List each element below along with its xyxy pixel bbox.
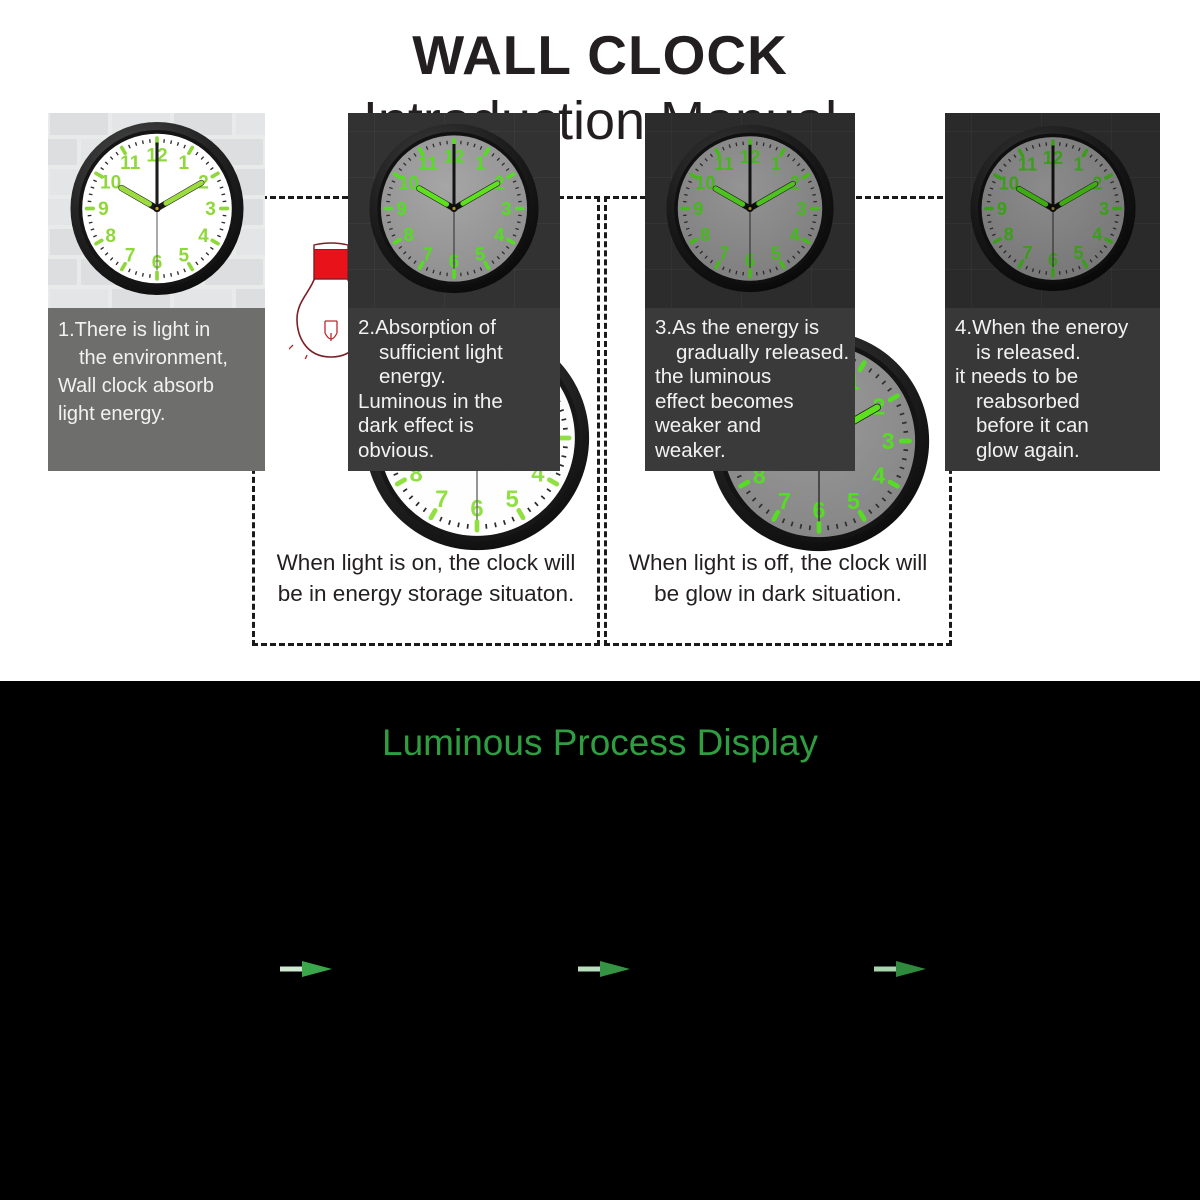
- caption-line-2: be glow in dark situation.: [617, 578, 939, 609]
- step-1-caption-line: Wall clock absorb: [58, 372, 255, 400]
- step-1-caption-line: the environment,: [58, 344, 255, 372]
- clock-numeral: 7: [1022, 243, 1032, 263]
- clock-numeral: 3: [1099, 198, 1109, 218]
- clock-numeral: 4: [198, 225, 209, 246]
- panel-caption-light-off: When light is off, the clock will be glo…: [617, 547, 939, 609]
- step-3-caption-line: weaker and: [655, 414, 845, 439]
- clock-numeral: 5: [475, 243, 485, 264]
- right-arrow-icon: [280, 958, 340, 980]
- clock-numeral: 9: [397, 198, 407, 219]
- step-2-image: 121234567891011: [348, 113, 560, 308]
- clock-numeral: 8: [105, 225, 116, 246]
- step-4-caption-line: 4.When the eneroy: [955, 316, 1150, 341]
- caption-line-1: When light is off, the clock will: [617, 547, 939, 578]
- clock-numeral: 11: [1017, 154, 1036, 174]
- clock-numeral: 4: [494, 224, 505, 245]
- clock-numeral: 7: [778, 488, 791, 514]
- luminous-process-title: Luminous Process Display: [0, 721, 1200, 765]
- clock-numeral: 7: [124, 245, 135, 266]
- clock-numeral: 10: [695, 172, 715, 193]
- wall-clock-icon: 121234567891011: [969, 124, 1137, 297]
- step-4-caption-line: glow again.: [955, 439, 1150, 464]
- step-3-caption: 3.As the energy isgradually released.the…: [645, 308, 855, 471]
- right-arrow-icon: [578, 958, 638, 980]
- step-4-image: 121234567891011: [945, 113, 1160, 308]
- clock-numeral: 5: [506, 486, 519, 513]
- clock-numeral: 1: [178, 152, 189, 173]
- clock-numeral: 9: [693, 197, 703, 218]
- clock-numeral: 3: [797, 197, 807, 218]
- clock-numeral: 3: [205, 199, 216, 220]
- step-2-caption-line: Luminous in the: [358, 390, 550, 415]
- clock-numeral: 3: [501, 198, 511, 219]
- clock-numeral: 7: [435, 486, 448, 513]
- wall-clock-icon: 121234567891011: [69, 120, 245, 301]
- step-3-caption-line: the luminous: [655, 365, 845, 390]
- clock-numeral: 10: [998, 173, 1018, 193]
- panel-caption-light-on: When light is on, the clock will be in e…: [265, 547, 587, 609]
- clock-numeral: 9: [996, 198, 1006, 218]
- clock-numeral: 8: [404, 224, 414, 245]
- clock-numeral: 11: [714, 153, 733, 174]
- step-1-caption: 1.There is light inthe environment,Wall …: [48, 308, 265, 471]
- step-4-caption-line: reabsorbed: [955, 390, 1150, 415]
- clock-numeral: 7: [719, 242, 729, 263]
- clock-numeral: 4: [872, 463, 885, 489]
- process-step-1: 121234567891011 1.There is light inthe e…: [48, 113, 265, 471]
- caption-line-2: be in energy storage situaton.: [265, 578, 587, 609]
- step-2-caption-line: obvious.: [358, 439, 550, 464]
- step-3-caption-line: gradually released.: [655, 341, 845, 366]
- step-1-caption-line: 1.There is light in: [58, 316, 255, 344]
- step-3-caption-line: 3.As the energy is: [655, 316, 845, 341]
- clock-numeral: 7: [423, 243, 433, 264]
- step-4-caption-line: is released.: [955, 341, 1150, 366]
- clock-numeral: 5: [771, 242, 781, 263]
- clock-numeral: 10: [100, 172, 121, 193]
- clock-numeral: 5: [178, 245, 189, 266]
- clock-numeral: 5: [847, 488, 860, 514]
- clock-numeral: 4: [1092, 224, 1103, 244]
- clock-numeral: 1: [1073, 154, 1083, 174]
- bottom-dark-section: Luminous Process Display: [0, 681, 1200, 1200]
- step-2-caption-line: energy.: [358, 365, 550, 390]
- clock-numeral: 9: [98, 199, 109, 220]
- wall-clock-icon: 121234567891011: [665, 123, 835, 298]
- process-step-4: 121234567891011 4.When the eneroyis rele…: [945, 113, 1160, 471]
- step-2-caption-line: 2.Absorption of: [358, 316, 550, 341]
- process-step-3: 121234567891011 3.As the energy isgradua…: [645, 113, 855, 471]
- step-2-caption-line: dark effect is: [358, 414, 550, 439]
- page-title-primary: WALL CLOCK: [0, 24, 1200, 86]
- step-2-caption-line: sufficient light: [358, 341, 550, 366]
- caption-line-1: When light is on, the clock will: [265, 547, 587, 578]
- clock-numeral: 10: [398, 171, 419, 192]
- poster-root: WALL CLOCK Introduction Manual: [0, 0, 1200, 1200]
- step-4-caption-line: it needs to be: [955, 365, 1150, 390]
- clock-numeral: 11: [120, 152, 141, 173]
- step-1-image: 121234567891011: [48, 113, 265, 308]
- wall-clock-icon: 121234567891011: [368, 122, 540, 299]
- step-3-caption-line: effect becomes: [655, 390, 845, 415]
- clock-numeral: 8: [1003, 224, 1013, 244]
- clock-numeral: 8: [700, 223, 710, 244]
- right-arrow-icon: [874, 958, 934, 980]
- clock-numeral: 3: [882, 428, 895, 454]
- step-1-caption-line: light energy.: [58, 400, 255, 428]
- step-4-caption: 4.When the eneroyis released.it needs to…: [945, 308, 1160, 471]
- clock-numeral: 1: [771, 153, 781, 174]
- clock-numeral: 4: [790, 223, 801, 244]
- clock-numeral: 11: [418, 152, 438, 173]
- step-3-image: 121234567891011: [645, 113, 855, 308]
- step-2-caption: 2.Absorption ofsufficient lightenergy.Lu…: [348, 308, 560, 471]
- step-3-caption-line: weaker.: [655, 439, 845, 464]
- process-step-2: 121234567891011 2.Absorption ofsufficien…: [348, 113, 560, 471]
- clock-numeral: 5: [1073, 243, 1083, 263]
- step-4-caption-line: before it can: [955, 414, 1150, 439]
- clock-numeral: 1: [475, 152, 485, 173]
